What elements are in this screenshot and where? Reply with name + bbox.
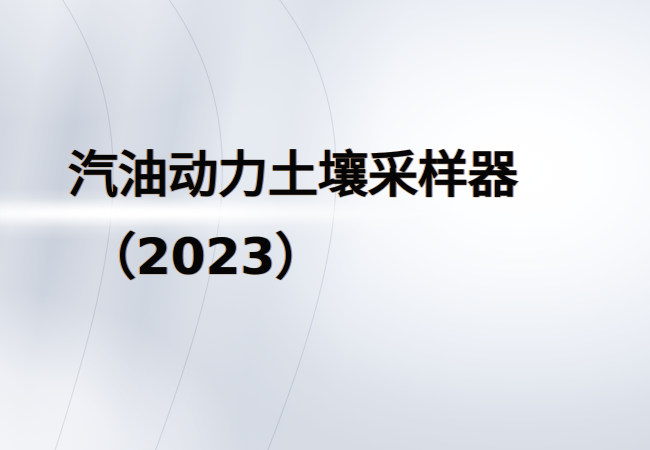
title-line-year: （2023）	[86, 228, 325, 286]
title-slide: 汽油动力土壤采样器 （2023）	[0, 0, 650, 450]
title-block: 汽油动力土壤采样器 （2023）	[0, 0, 650, 450]
title-line-primary: 汽油动力土壤采样器	[68, 146, 518, 204]
